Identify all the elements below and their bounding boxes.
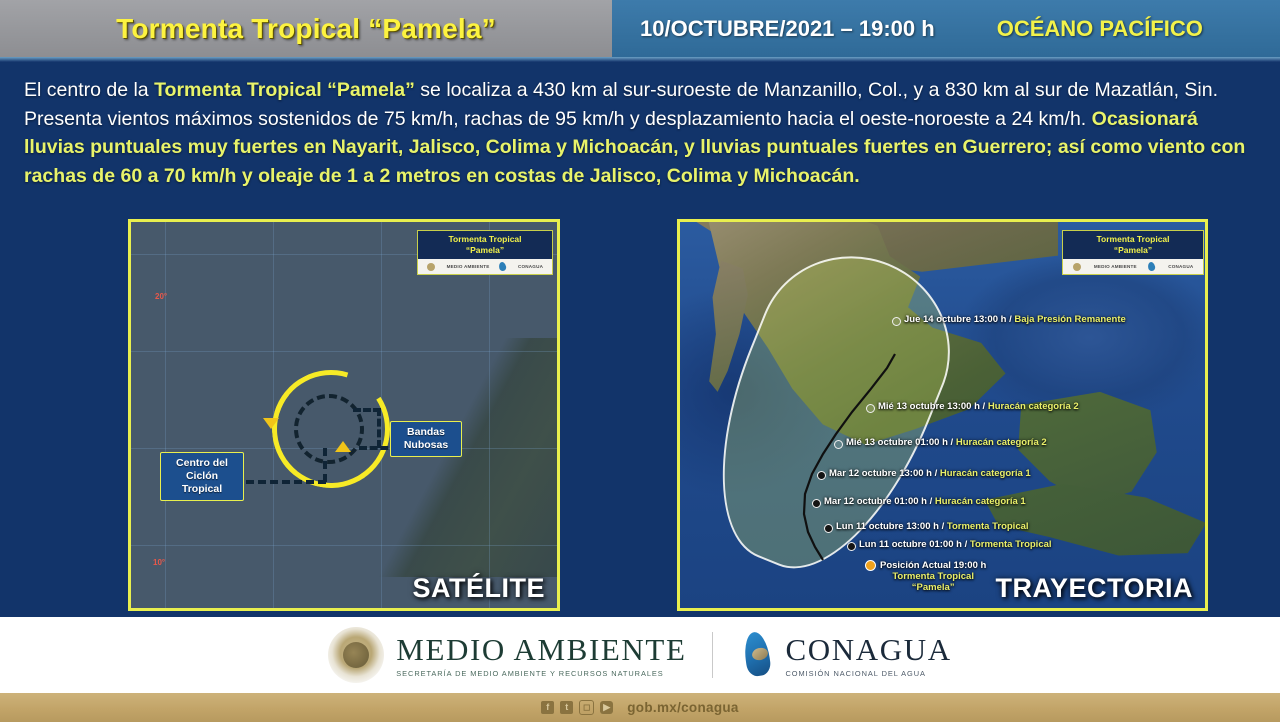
summary-text: El centro de la Tormenta Tropical “Pamel… [24,76,1262,190]
trajectory-caption: TRAYECTORIA [995,573,1193,604]
trajectory-badge-line1: Tormenta Tropical [1067,234,1199,245]
satellite-caption: SATÉLITE [412,573,545,604]
twitter-icon[interactable]: t [560,701,573,714]
water-drop-icon [498,261,507,271]
center-leader-horizontal [246,480,326,484]
track-label-mar12-13: Mar 12 octubre 13:00 h / Huracán categor… [829,468,1031,479]
summary-segment-0: El centro de la [24,79,154,101]
bandas-leader-vertical [377,408,381,448]
footer-logos: MEDIO AMBIENTE SECRETARÍA DE MEDIO AMBIE… [0,617,1280,693]
trajectory-badge-logos: MEDIO AMBIENTE CONAGUA [1063,259,1203,274]
seal-icon [427,263,435,271]
track-label-lun11-13-time: Lun 11 octubre 13:00 h [836,521,939,532]
track-point-mie13-13[interactable] [866,404,875,413]
track-label-jue14-time: Jue 14 octubre 13:00 h [904,314,1006,325]
track-label-mie13-13-category: Huracán categoría 2 [988,401,1079,412]
track-point-mar12-01[interactable] [812,499,821,508]
satellite-badge-logo-right: CONAGUA [518,264,543,269]
trajectory-badge-logo-right: CONAGUA [1168,264,1193,269]
track-label-mie13-01-sep: / [951,437,954,448]
track-point-current[interactable] [865,560,876,571]
track-label-mie13-13-time: Mié 13 octubre 13:00 h [878,401,980,412]
track-label-mar12-13-time: Mar 12 octubre 13:00 h [829,468,932,479]
satellite-lat-label-20: 20° [155,292,167,301]
track-point-lun11-01[interactable] [847,542,856,551]
track-label-current: Posición Actual 19:00 h Tormenta Tropica… [880,560,986,593]
cyclone-arrow-band [335,441,351,452]
satellite-badge: Tormenta Tropical “Pamela” MEDIO AMBIENT… [417,230,553,275]
satellite-badge-logos: MEDIO AMBIENTE CONAGUA [418,259,552,274]
satellite-badge-line2: “Pamela” [422,245,548,256]
water-drop-icon [1147,261,1156,271]
bandas-leader-top [353,408,381,412]
infographic-root: Tormenta Tropical “Pamela” 10/OCTUBRE/20… [0,0,1280,722]
medio-ambiente-logo: MEDIO AMBIENTE SECRETARÍA DE MEDIO AMBIE… [328,627,686,683]
track-label-mar12-01-time: Mar 12 octubre 01:00 h [824,496,927,507]
track-label-mar12-13-category: Huracán categoría 1 [940,468,1031,479]
track-label-mar12-01-category: Huracán categoría 1 [935,496,1026,507]
track-label-mie13-13-sep: / [983,401,986,412]
current-position-line2: Tormenta Tropical [880,571,986,582]
conagua-subtitle: COMISIÓN NACIONAL DEL AGUA [785,669,951,678]
annotation-bandas-nubosas[interactable]: Bandas Nubosas [390,421,462,457]
header-bar: Tormenta Tropical “Pamela” 10/OCTUBRE/20… [0,0,1280,57]
medio-ambiente-text: MEDIO AMBIENTE SECRETARÍA DE MEDIO AMBIE… [396,633,686,678]
header-title-block: Tormenta Tropical “Pamela” [0,0,612,57]
satellite-lat-label-10: 10° [153,558,165,567]
header-region: OCÉANO PACÍFICO [997,16,1203,42]
track-label-mie13-01-category: Huracán categoría 2 [956,437,1047,448]
mexican-coat-of-arms-icon [328,627,384,683]
medio-ambiente-subtitle: SECRETARÍA DE MEDIO AMBIENTE Y RECURSOS … [396,669,686,678]
satellite-badge-logo-left: MEDIO AMBIENTE [447,264,490,269]
track-point-lun11-13[interactable] [824,524,833,533]
track-label-mar12-01-sep: / [930,496,933,507]
track-line [680,222,1208,611]
track-label-mie13-13: Mié 13 octubre 13:00 h / Huracán categor… [878,401,1079,412]
satellite-panel[interactable]: 20° 10° Centro del Ciclón Tropical Banda… [128,219,560,611]
track-label-lun11-01-category: Tormenta Tropical [970,539,1052,550]
bottom-bar: f t ◻ ▶ gob.mx/conagua [0,693,1280,722]
track-label-mie13-01: Mié 13 octubre 01:00 h / Huracán categor… [846,437,1047,448]
footer-divider [712,632,713,678]
facebook-icon[interactable]: f [541,701,554,714]
satellite-badge-text: Tormenta Tropical “Pamela” [418,231,552,259]
header-datetime: 10/OCTUBRE/2021 – 19:00 h [640,16,935,42]
current-position-line1: Posición Actual 19:00 h [880,560,986,571]
summary-segment-1: Tormenta Tropical “Pamela” [154,79,415,101]
track-label-jue14-sep: / [1009,314,1012,325]
track-point-mie13-01[interactable] [834,440,843,449]
track-label-mar12-13-sep: / [935,468,938,479]
satellite-badge-line1: Tormenta Tropical [422,234,548,245]
conagua-logo: CONAGUA COMISIÓN NACIONAL DEL AGUA [739,632,951,678]
track-label-lun11-13: Lun 11 octubre 13:00 h / Tormenta Tropic… [836,521,1029,532]
page-title: Tormenta Tropical “Pamela” [116,13,496,45]
cyclone-arrow-left [263,418,279,429]
track-label-mie13-01-time: Mié 13 octubre 01:00 h [846,437,948,448]
seal-icon [1073,263,1081,271]
track-label-lun11-01: Lun 11 octubre 01:00 h / Tormenta Tropic… [859,539,1052,550]
conagua-water-drop-icon [739,632,773,678]
header-underline [0,57,1280,62]
track-point-jue14[interactable] [892,317,901,326]
trajectory-badge-text: Tormenta Tropical “Pamela” [1063,231,1203,259]
annotation-centro-ciclon[interactable]: Centro del Ciclón Tropical [160,452,244,501]
track-label-lun11-01-time: Lun 11 octubre 01:00 h [859,539,962,550]
trajectory-badge: Tormenta Tropical “Pamela” MEDIO AMBIENT… [1062,230,1204,275]
track-label-jue14-category: Baja Presión Remanente [1014,314,1125,325]
trajectory-badge-logo-left: MEDIO AMBIENTE [1094,264,1137,269]
youtube-icon[interactable]: ▶ [600,701,613,714]
track-point-mar12-13[interactable] [817,471,826,480]
conagua-text: CONAGUA COMISIÓN NACIONAL DEL AGUA [785,633,951,678]
track-label-lun11-01-sep: / [965,539,968,550]
conagua-title: CONAGUA [785,633,951,667]
header-meta-block: 10/OCTUBRE/2021 – 19:00 h OCÉANO PACÍFIC… [612,0,1280,57]
medio-ambiente-title: MEDIO AMBIENTE [396,633,686,667]
instagram-icon[interactable]: ◻ [579,700,594,715]
current-position-line3: “Pamela” [880,582,986,593]
center-leader-vertical [323,448,327,482]
social-links: f t ◻ ▶ [541,700,619,715]
track-label-lun11-13-sep: / [942,521,945,532]
cyclone-center-ring [294,394,364,464]
trajectory-panel[interactable]: Jue 14 octubre 13:00 h / Baja Presión Re… [677,219,1208,611]
track-label-lun11-13-category: Tormenta Tropical [947,521,1029,532]
track-label-jue14: Jue 14 octubre 13:00 h / Baja Presión Re… [904,314,1126,325]
track-label-mar12-01: Mar 12 octubre 01:00 h / Huracán categor… [824,496,1026,507]
website-url[interactable]: gob.mx/conagua [627,700,738,715]
trajectory-badge-line2: “Pamela” [1067,245,1199,256]
